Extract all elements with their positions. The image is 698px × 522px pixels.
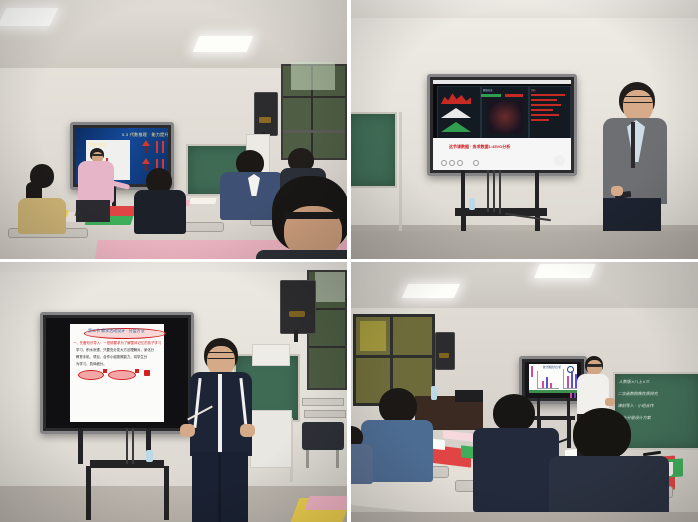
slide-title: 5.3 代数推理 · 能力提升: [122, 132, 168, 138]
wall-speaker: [254, 92, 278, 136]
display-screen: 统计图表的分析: [525, 362, 581, 398]
chart-title: 统计图表的分析: [543, 365, 561, 369]
display-screen: 第二节 教学活动设计 · 分层方法 一、先备知识导入：一是精要求为了解整体记忆的…: [46, 318, 188, 428]
interactive-display: 数据总览 指标 这节课数据 · 务求数据1:45VO分析: [427, 74, 577, 176]
slide-heading: 第二节 教学活动设计 · 分层方法: [88, 328, 145, 334]
slide-line-2: 学习，积水渗透，只要充分发大方法理解对，深化分: [76, 347, 154, 352]
photo-bottom-left[interactable]: 第二节 教学活动设计 · 分层方法 一、先备知识导入：一是精要求为了解整体记忆的…: [0, 262, 347, 522]
slide-line-1: 一、先备知识导入：一是精要求为了解整体记忆的孩子学习: [73, 340, 161, 345]
water-bottle: [431, 386, 437, 400]
slide-subtitle: 思维与表达: [90, 142, 107, 147]
photo-top-right[interactable]: 数据总览 指标 这节课数据 · 务求数据1:45VO分析: [351, 0, 698, 259]
photo-bottom-right[interactable]: 统计图表的分析: [351, 262, 698, 522]
slide-line-3: 教育手机、项目、合作小组按照能力，将学生分: [76, 354, 147, 359]
banner-text: 这节课数据 · 务求数据1:45VO分析: [449, 144, 510, 150]
interactive-display: 第二节 教学活动设计 · 分层方法 一、先备知识导入：一是精要求为了解整体记忆的…: [40, 312, 194, 434]
water-bottle: [469, 198, 475, 210]
slide-line-4: 为学习，具体细分。: [76, 361, 107, 366]
stacked-chairs: [302, 398, 346, 470]
green-chalkboard: [351, 112, 397, 188]
wall-speaker: [280, 280, 316, 334]
wall-speaker: [435, 332, 455, 370]
display-screen: 数据总览 指标 这节课数据 · 务求数据1:45VO分析: [433, 80, 571, 170]
water-bottle: [146, 450, 153, 462]
photo-top-left[interactable]: 5.3 代数推理 · 能力提升 思维与表达: [0, 0, 347, 259]
photo-collage: 5.3 代数推理 · 能力提升 思维与表达: [0, 0, 698, 522]
